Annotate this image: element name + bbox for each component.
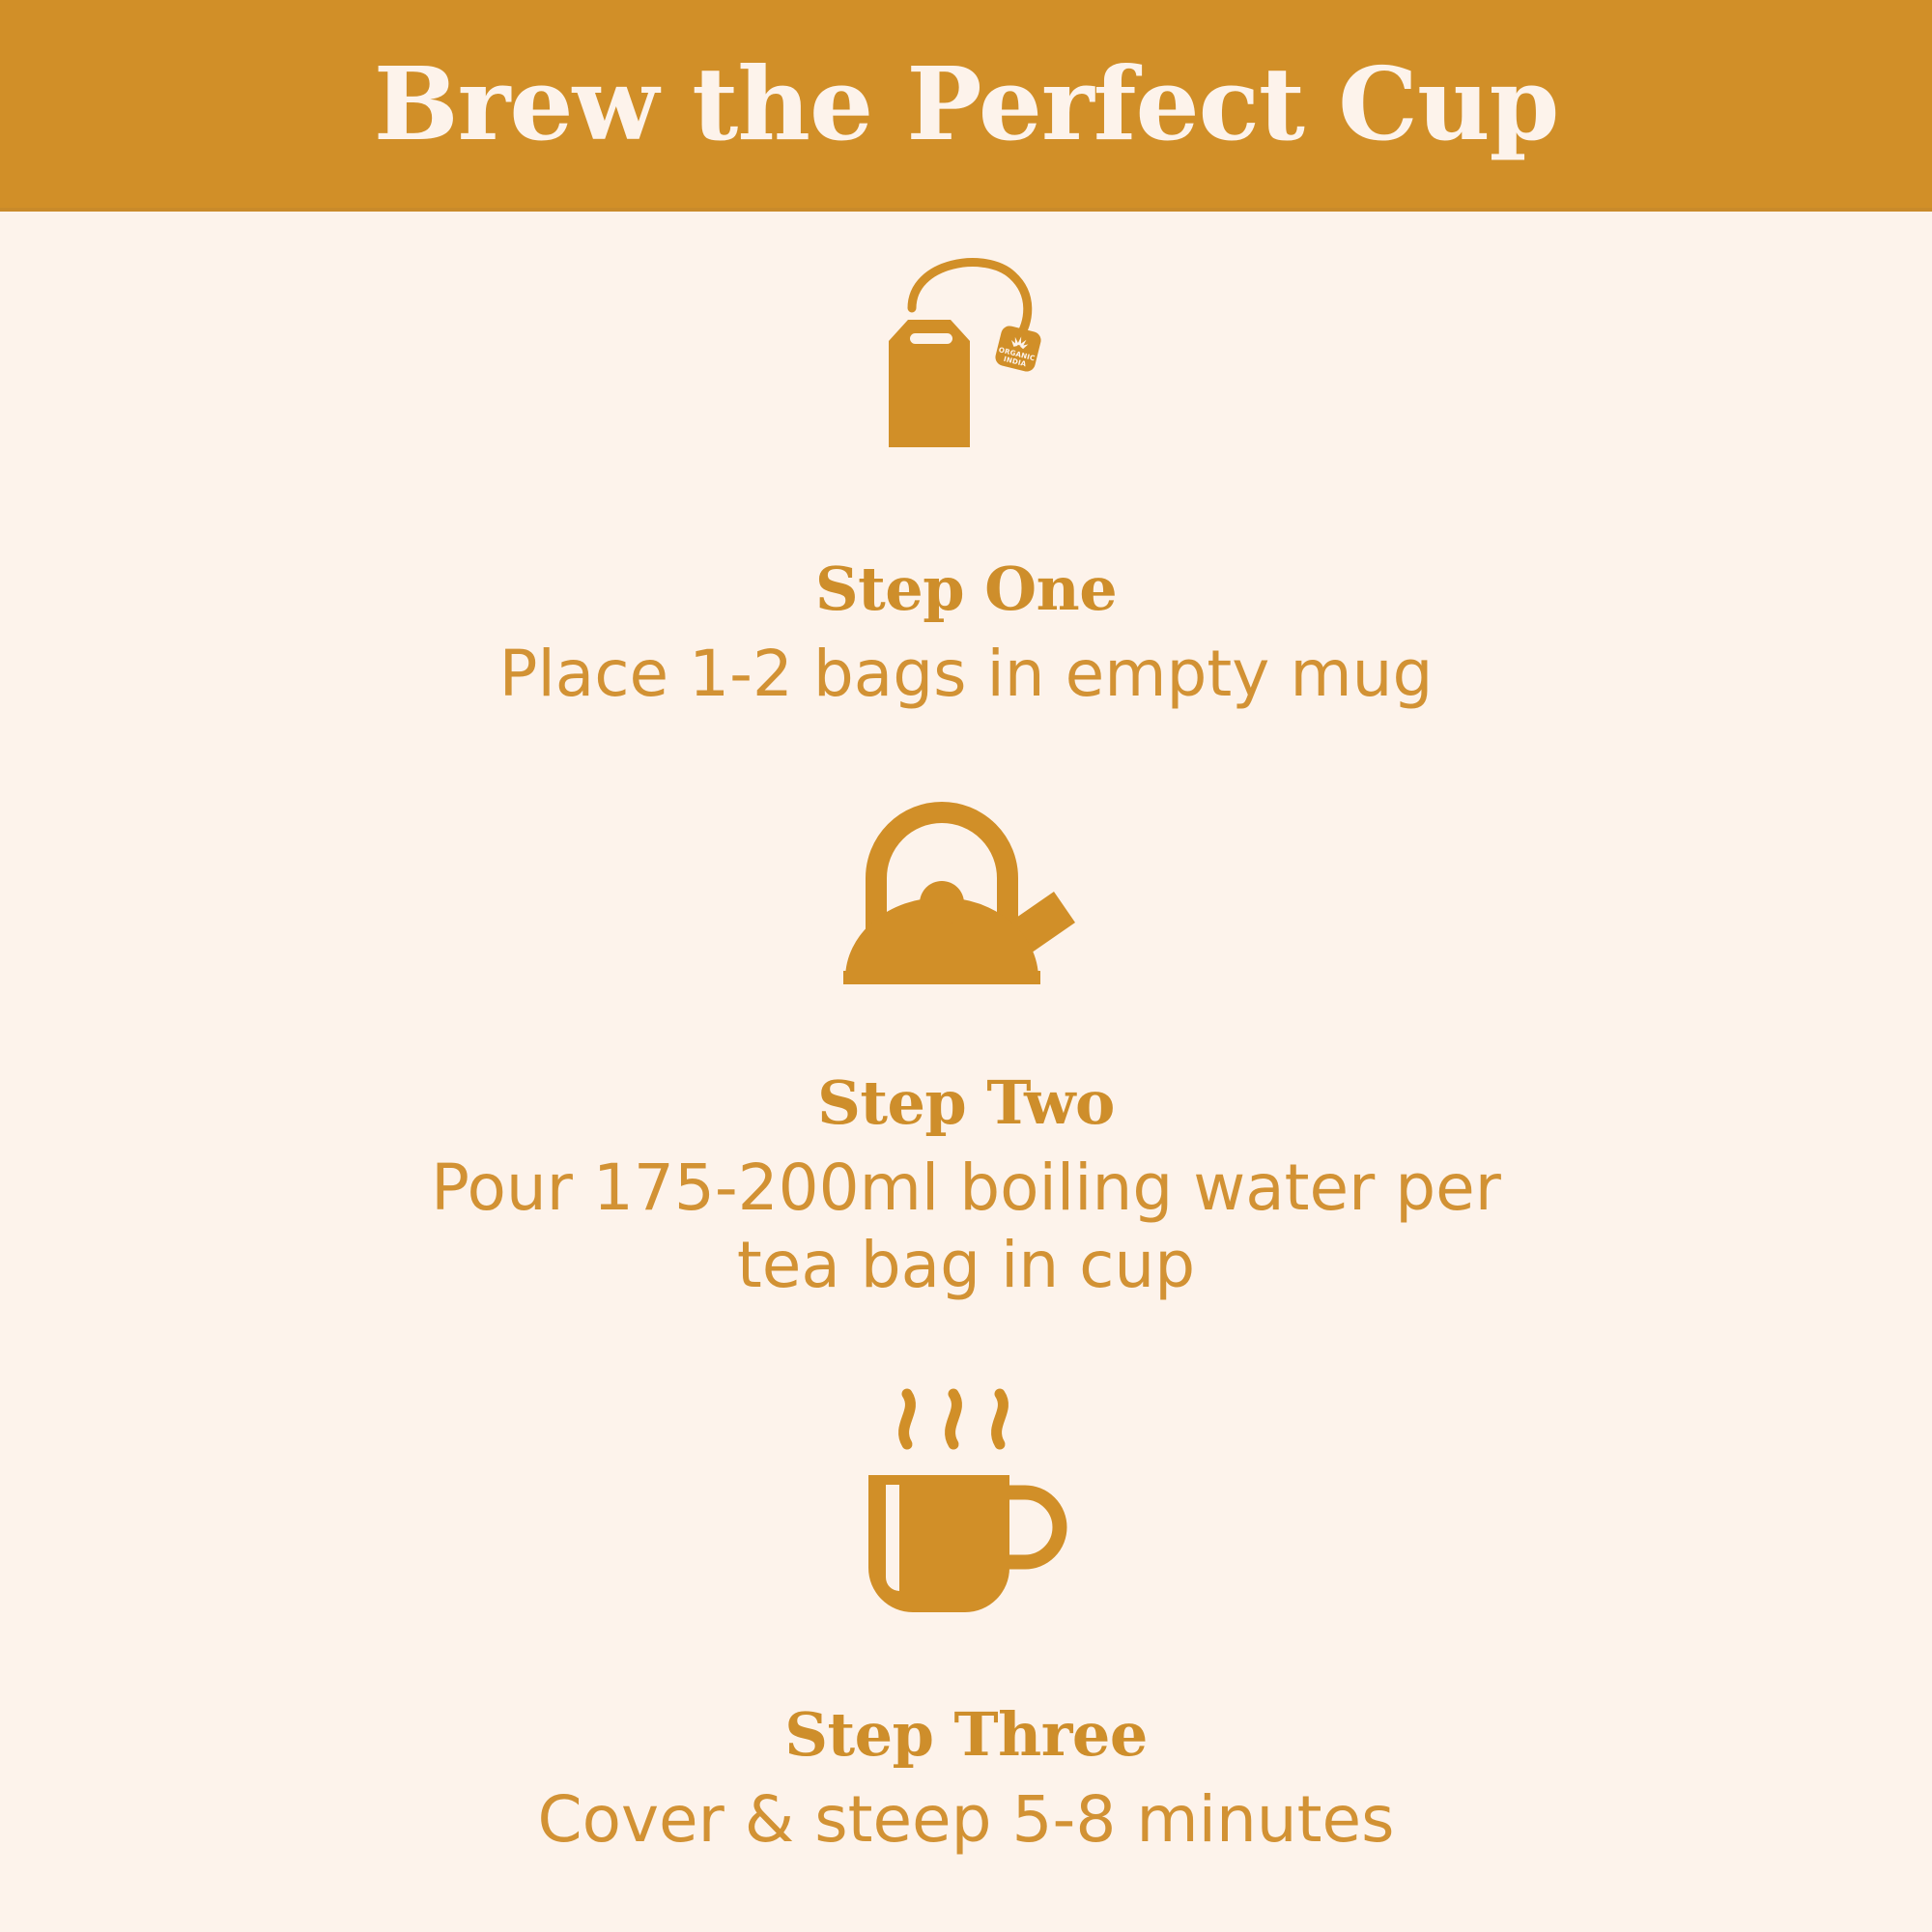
step-three: Step Three Cover & steep 5-8 minutes bbox=[0, 1378, 1932, 1860]
brewing-instructions-infographic: Brew the Perfect Cup bbox=[0, 0, 1932, 1932]
step-one-heading: Step One bbox=[815, 557, 1117, 620]
steps-container: ORGANIC INDIA Step One Place 1-2 bags in… bbox=[0, 208, 1932, 1932]
kettle-icon bbox=[826, 789, 1106, 1011]
page-title: Brew the Perfect Cup bbox=[374, 54, 1559, 155]
step-one-description: Place 1-2 bags in empty mug bbox=[499, 636, 1434, 714]
step-two-heading: Step Two bbox=[817, 1071, 1115, 1134]
tea-bag-icon: ORGANIC INDIA bbox=[840, 248, 1092, 499]
step-two-description: Pour 175-200ml boiling water per tea bag… bbox=[372, 1150, 1560, 1305]
step-three-description: Cover & steep 5-8 minutes bbox=[538, 1781, 1395, 1860]
step-one: ORGANIC INDIA Step One Place 1-2 bags in… bbox=[0, 248, 1932, 714]
step-two: Step Two Pour 175-200ml boiling water pe… bbox=[0, 789, 1932, 1305]
step-three-heading: Step Three bbox=[784, 1703, 1148, 1766]
steaming-mug-icon bbox=[836, 1378, 1096, 1639]
header-banner: Brew the Perfect Cup bbox=[0, 0, 1932, 212]
